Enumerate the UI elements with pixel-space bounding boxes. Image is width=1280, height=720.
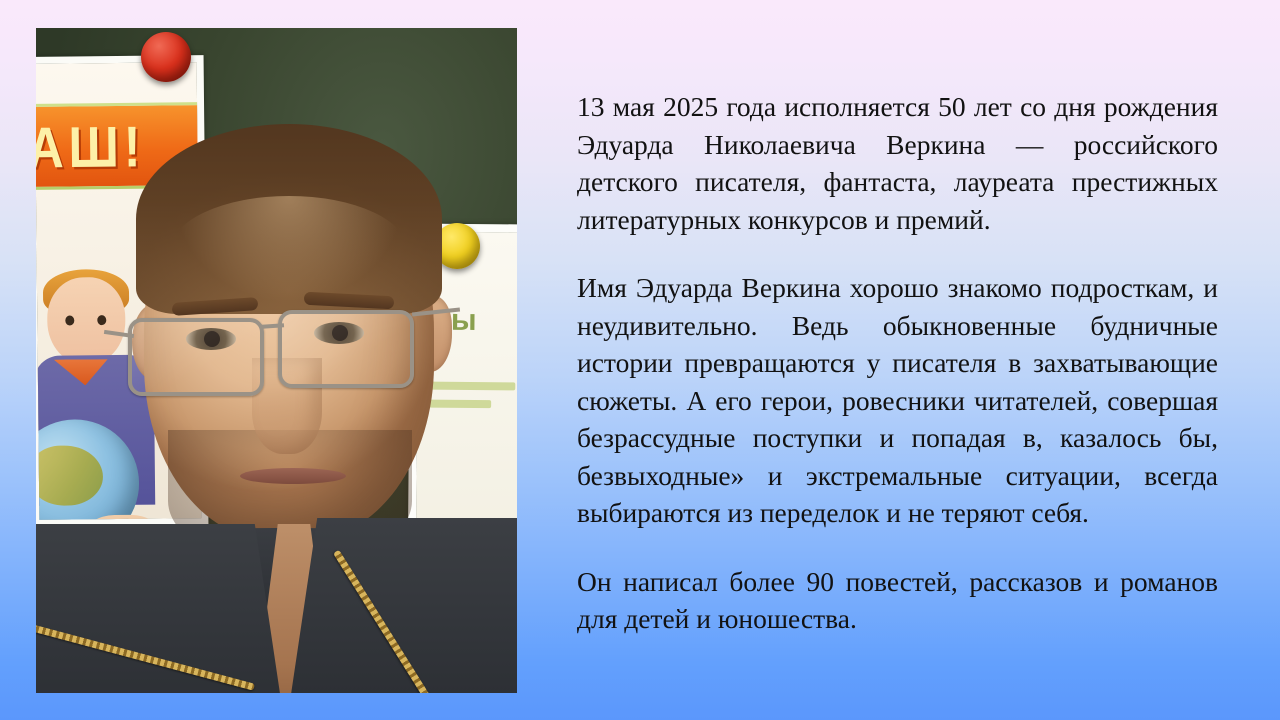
paragraph-body: Имя Эдуарда Веркина хорошо знакомо подро…: [577, 269, 1218, 532]
jacket-lapel-right: [286, 518, 517, 693]
paragraph-works: Он написал более 90 повестей, рассказов …: [577, 563, 1218, 638]
eyeglass-lens-left: [128, 318, 264, 396]
presentation-slide: АШ! пы: [0, 0, 1280, 720]
eyeglass-temple-right: [412, 308, 460, 317]
slide-text-panel: 13 мая 2025 года исполняется 50 лет со д…: [577, 88, 1218, 638]
jacket-lapel-left: [36, 524, 286, 693]
person-mouth: [240, 468, 346, 484]
paragraph-intro: 13 мая 2025 года исполняется 50 лет со д…: [577, 88, 1218, 238]
person-hair: [136, 124, 442, 314]
eyeglasses-icon: [122, 304, 452, 396]
author-photo: АШ! пы: [36, 28, 517, 693]
photo-content: АШ! пы: [36, 28, 517, 693]
eyeglass-lens-right: [278, 310, 414, 388]
person-portrait: [36, 28, 517, 693]
